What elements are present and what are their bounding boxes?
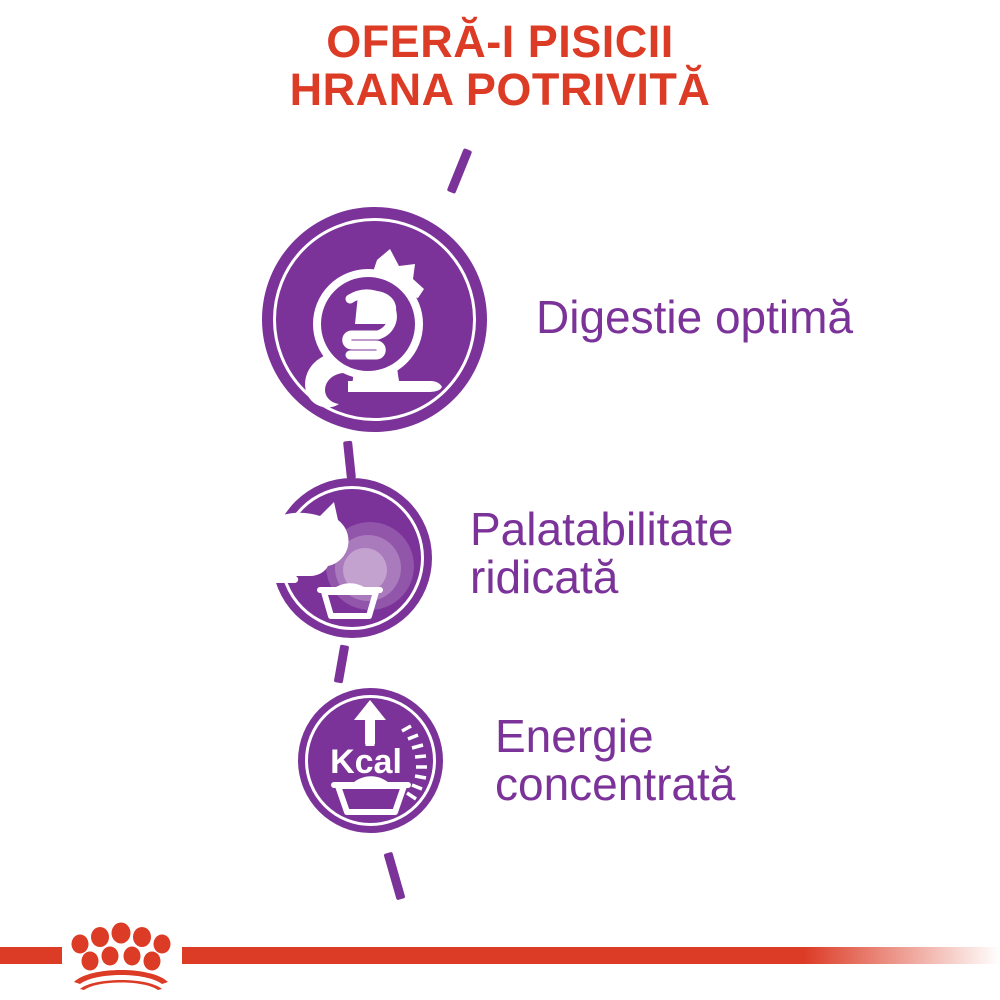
food-bowl [334, 776, 408, 812]
feature-icon-palatability[interactable] [272, 478, 432, 638]
brand-footer [0, 912, 1000, 1000]
feature-row-energy: Kcal [0, 0, 1000, 1000]
title-line-2: HRANA POTRIVITĂ [0, 66, 1000, 114]
connector-dash-top [447, 148, 473, 194]
feature-row-palatability: Palatabilitate ridicată [0, 0, 1000, 1000]
connector-dash-1-2 [343, 441, 356, 480]
cat-eating-glyph [272, 478, 432, 638]
feature-label-digestion: Digestie optimă [536, 293, 986, 341]
kcal-label: Kcal [330, 743, 402, 781]
cat-digestion-glyph [262, 207, 487, 432]
cat-digestion-icon [262, 207, 487, 432]
infographic-canvas: OFERĂ-I PISICII HRANA POTRIVITĂ [0, 0, 1000, 1000]
cat-eating-bowl-icon [272, 478, 432, 638]
royal-canin-crown-logo [62, 920, 180, 990]
feature-icon-energy[interactable]: Kcal [298, 688, 443, 833]
kcal-energy-glyph: Kcal [298, 688, 443, 833]
feature-icon-digestion[interactable] [262, 207, 487, 432]
feature-label-palatability: Palatabilitate ridicată [470, 505, 940, 602]
up-arrow-icon [354, 700, 386, 746]
kcal-energy-bowl-icon: Kcal [298, 688, 443, 833]
page-title: OFERĂ-I PISICII HRANA POTRIVITĂ [0, 18, 1000, 114]
feature-row-digestion: Digestie optimă [0, 0, 1000, 1000]
title-line-1: OFERĂ-I PISICII [0, 18, 1000, 66]
connector-dash-2-3 [334, 645, 349, 684]
footer-bar-left [0, 947, 62, 964]
feature-label-energy: Energie concentrată [495, 712, 955, 809]
footer-bar-right [182, 947, 1000, 964]
connector-dash-bottom [384, 852, 406, 901]
